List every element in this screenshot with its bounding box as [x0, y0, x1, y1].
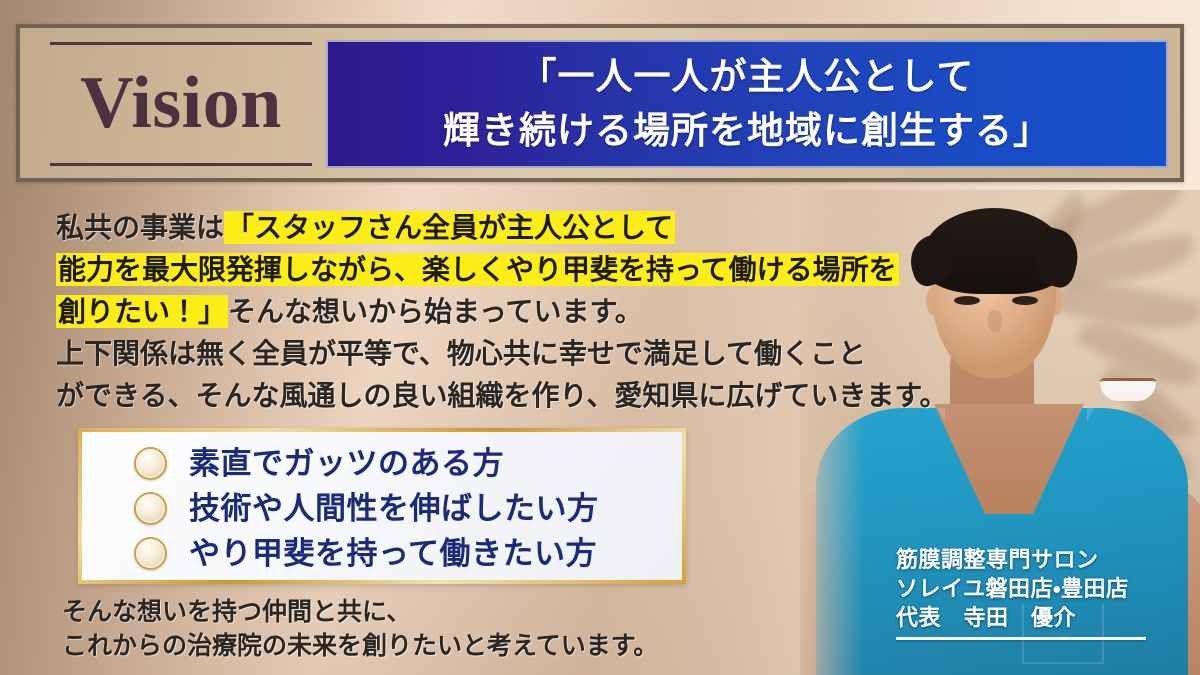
closing-paragraph: そんな想いを持つ仲間と共に、 これからの治療院の未来を創りたいと考えています。 — [62, 595, 762, 663]
vision-label-cell: Vision — [50, 42, 312, 166]
body-line-2-highlight: 能力を最大限発揮しながら、楽しくやり甲斐を持って働ける場所を — [56, 253, 899, 286]
circle-bullet-icon — [134, 492, 167, 525]
closing-line-1: そんな想いを持つ仲間と共に、 — [62, 595, 762, 629]
bullet-label: 素直でガッツのある方 — [189, 447, 504, 481]
header-frame: Vision 「一人一人が主人公として 輝き続ける場所を地域に創生する」 — [16, 24, 1184, 182]
body-line-2: 能力を最大限発揮しながら、楽しくやり甲斐を持って働ける場所を — [56, 250, 936, 290]
vision-statement-line-2: 輝き続ける場所を地域に創生する」 — [443, 104, 1051, 158]
signature-salon-type: 筋膜調整専門サロン — [896, 545, 1158, 574]
circle-bullet-icon — [134, 537, 167, 570]
list-item: やり甲斐を持って働きたい方 — [82, 531, 682, 576]
nose — [988, 310, 1002, 332]
eye-right — [1012, 296, 1038, 305]
vision-rule-bottom — [50, 163, 312, 166]
body-line-3-plain: そんな想いから始まっています。 — [228, 296, 643, 327]
bullet-label: やり甲斐を持って働きたい方 — [189, 537, 597, 571]
target-person-box: 素直でガッツのある方 技術や人間性を伸ばしたい方 やり甲斐を持って働きたい方 — [78, 428, 686, 584]
body-line-3: 創りたい！」そんな想いから始まっています。 — [56, 292, 936, 332]
eye-left — [954, 296, 980, 305]
mouth — [1100, 378, 1156, 401]
body-line-4: 上下関係は無く全員が平等で、物心共に幸せで満足して働くこと — [56, 334, 936, 374]
body-line-3-highlight: 創りたい！」 — [56, 295, 228, 328]
list-item: 技術や人間性を伸ばしたい方 — [82, 486, 682, 531]
vision-label: Vision — [50, 64, 312, 144]
signature-block: 筋膜調整専門サロン ソレイユ磐田店・豊田店 代表 寺田 優介 — [896, 545, 1158, 640]
closing-line-2: これからの治療院の未来を創りたいと考えています。 — [62, 629, 762, 663]
body-line-5: ができる、そんな風通しの良い組織を作り、愛知県に広げていきます。 — [56, 376, 936, 416]
bullet-label: 技術や人間性を伸ばしたい方 — [189, 492, 599, 526]
signature-representative: 代表 寺田 優介 — [896, 603, 1158, 632]
body-line-1-highlight: 「スタッフさん全員が主人公として — [224, 211, 675, 244]
signature-underline — [896, 637, 1146, 640]
vision-statement-line-1: 「一人一人が主人公として — [520, 50, 975, 104]
vision-slide: Vision 「一人一人が主人公として 輝き続ける場所を地域に創生する」 私共の… — [0, 0, 1200, 675]
list-item: 素直でガッツのある方 — [82, 441, 682, 486]
scrub-v-neck — [938, 408, 1094, 520]
vision-statement-banner: 「一人一人が主人公として 輝き続ける場所を地域に創生する」 — [326, 40, 1168, 168]
body-line-1: 私共の事業は「スタッフさん全員が主人公として — [56, 208, 936, 248]
circle-bullet-icon — [134, 447, 167, 480]
signature-salon-name: ソレイユ磐田店・豊田店 — [896, 574, 1158, 603]
body-paragraph: 私共の事業は「スタッフさん全員が主人公として 能力を最大限発揮しながら、楽しくや… — [56, 208, 936, 418]
body-line-1-plain: 私共の事業は — [56, 212, 224, 243]
vision-rule-top — [50, 42, 312, 45]
